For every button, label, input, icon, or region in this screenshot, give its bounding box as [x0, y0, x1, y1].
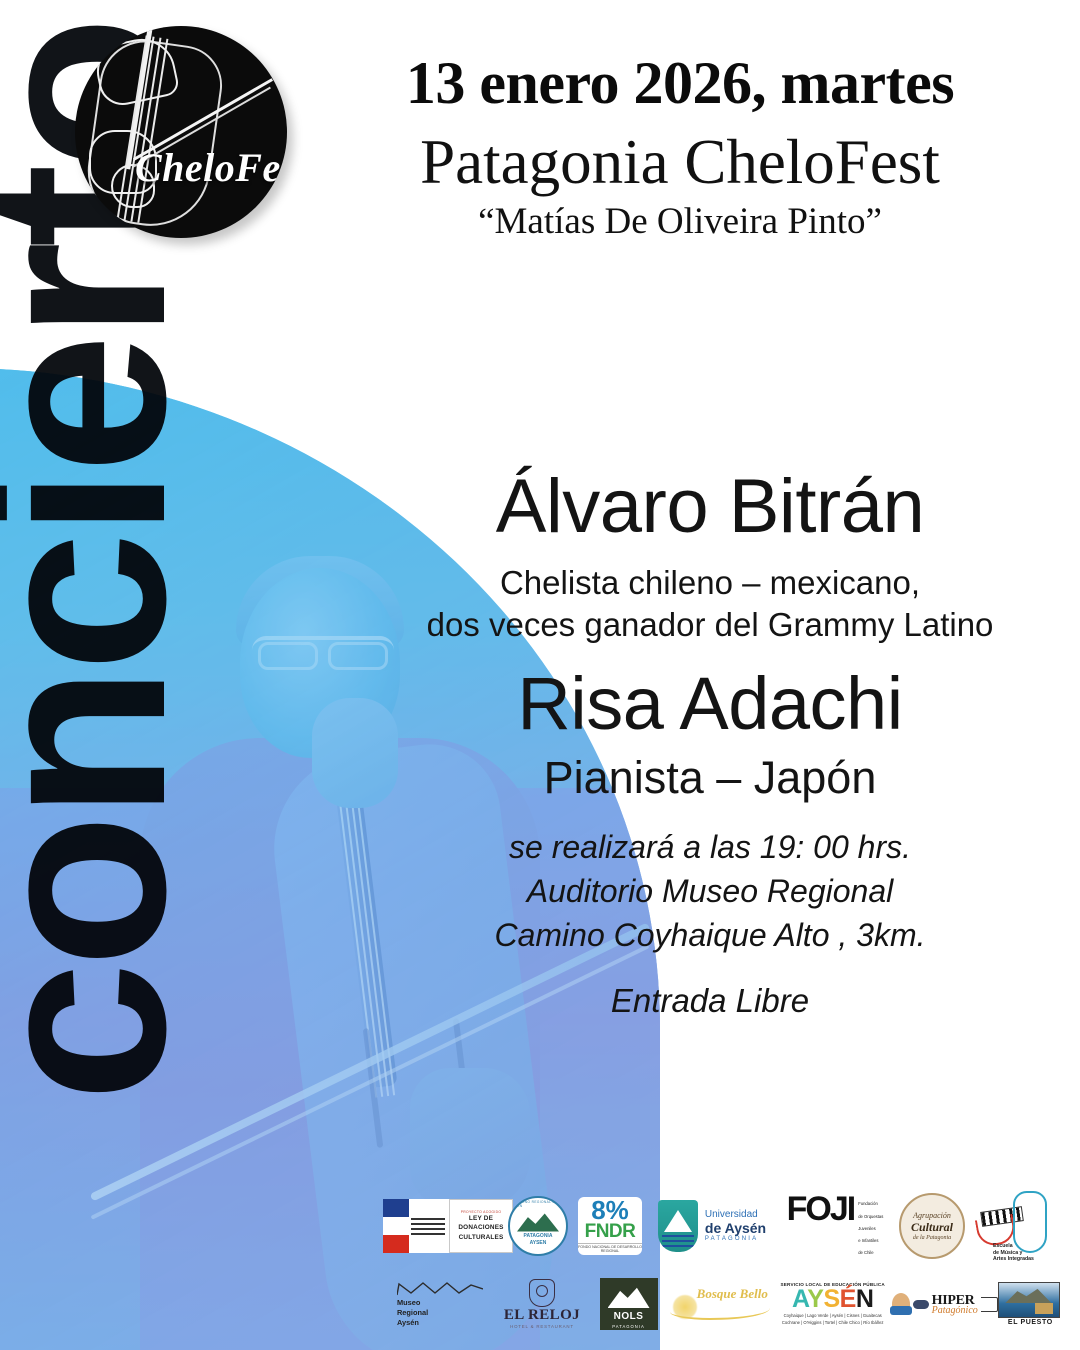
museo-line2: Regional	[397, 1308, 489, 1318]
ministerio-text-icon	[409, 1199, 449, 1253]
nols-caption: PATAGONIA	[600, 1324, 658, 1329]
puesto-landscape-icon	[998, 1282, 1060, 1318]
foji-caption-1: Fundación	[858, 1201, 883, 1207]
clock-crest-icon	[529, 1279, 555, 1307]
escuela-line2: de Música y	[993, 1250, 1034, 1257]
museo-line3: Aysén	[397, 1318, 489, 1328]
logo-patagonia-aysen: GOBIERNO REGIONAL DE AYSÉN PATAGONIA AYS…	[504, 1196, 572, 1256]
poster-header: 13 enero 2026, martes Patagonia CheloFes…	[330, 52, 1030, 244]
escuela-line3: Artes Integradas	[993, 1256, 1034, 1263]
hiper-subtitle: Patagónico	[932, 1305, 978, 1316]
zigzag-mountain-icon	[397, 1280, 483, 1296]
sponsor-logos: PROYECTO ACOGIDO LEY DE DONACIONES CULTU…	[392, 1186, 1064, 1336]
slep-aysen-wordmark: AYSÉN	[773, 1287, 893, 1312]
artist2-name: Risa Adachi	[380, 666, 1040, 741]
agrupacion-line2: Cultural	[911, 1220, 953, 1235]
nols-title: NOLS	[600, 1311, 658, 1322]
escuela-line1: Escuela	[993, 1243, 1034, 1250]
admission-note: Entrada Libre	[380, 981, 1040, 1021]
slep-communes-2: Cochrane | O'Higgins | Tortel | Chile Ch…	[773, 1320, 893, 1326]
event-date: 13 enero 2026, martes	[330, 52, 1030, 115]
chelofest-wordmark: CheloFest	[135, 144, 285, 191]
agrupacion-line3: de la Patagonia	[913, 1235, 951, 1241]
poster-canvas: concierto CheloFest 13 enero 2026, marte…	[0, 0, 1080, 1350]
cloud-icon	[913, 1300, 929, 1309]
venue-address: Camino Coyhaique Alto , 3km.	[380, 913, 1040, 957]
festival-title: Patagonia CheloFest	[330, 127, 1030, 198]
artist1-desc-line1: Chelista chileno – mexicano,	[380, 562, 1040, 604]
logo-museo-regional: Museo Regional Aysén	[392, 1280, 494, 1328]
fndr-acronym: FNDR	[585, 1222, 636, 1241]
main-info-block: Álvaro Bitrán Chelista chileno – mexican…	[380, 468, 1040, 1021]
reloj-title: EL RELOJ	[500, 1307, 584, 1324]
sponsor-row-1: PROYECTO ACOGIDO LEY DE DONACIONES CULTU…	[392, 1186, 1064, 1266]
festival-subtitle: “Matías De Oliveira Pinto”	[330, 200, 1030, 244]
venue-block: se realizará a las 19: 00 hrs. Auditorio…	[380, 825, 1040, 957]
logo-bosque-bello: Bosque Bello	[667, 1282, 773, 1326]
agrupacion-line1: Agrupación	[913, 1211, 951, 1220]
slep-communes-1: Coyhaique | Lago Verde | Aysén | Cisnes …	[773, 1313, 893, 1319]
patagonia-label: PATAGONIA	[524, 1234, 553, 1240]
logo-el-reloj: EL RELOJ HOTEL & RESTAURANT	[494, 1279, 590, 1329]
artist2-role: Pianista – Japón	[380, 753, 1040, 803]
shield-icon	[658, 1200, 698, 1252]
reloj-caption: HOTEL & RESTAURANT	[500, 1324, 584, 1329]
ley-line1: LEY DE	[469, 1214, 493, 1223]
logo-foji: FOJI Fundación de Orquestas Juveniles e …	[776, 1195, 894, 1256]
ley-line3: CULTURALES	[459, 1233, 504, 1242]
logo-fndr: 8% FNDR FONDO NACIONAL DE DESARROLLO REG…	[572, 1197, 648, 1255]
logo-slep-aysen: SERVICIO LOCAL DE EDUCACIÓN PÚBLICA AYSÉ…	[773, 1282, 893, 1327]
foji-acronym: FOJI	[787, 1195, 855, 1224]
logo-escuela-musica: Escuela de Música y Artes Integradas	[970, 1191, 1056, 1261]
puesto-title: EL PUESTO	[998, 1319, 1062, 1326]
bosque-title: Bosque Bello	[697, 1286, 768, 1302]
mountain-icon	[517, 1212, 559, 1232]
logo-agrupacion-cultural: Agrupación Cultural de la Patagonia	[894, 1193, 970, 1259]
artist1-name: Álvaro Bitrán	[380, 468, 1040, 546]
foji-caption-4: e Infantiles	[858, 1238, 883, 1244]
foji-caption-2: de Orquestas	[858, 1214, 883, 1220]
logo-nols: NOLS PATAGONIA	[590, 1278, 667, 1330]
foji-caption-3: Juveniles	[858, 1226, 883, 1232]
uaysen-line3: PATAGONIA	[705, 1236, 766, 1242]
fndr-caption: FONDO NACIONAL DE DESARROLLO REGIONAL	[578, 1243, 642, 1253]
ley-line2: DONACIONES	[458, 1223, 503, 1232]
shopping-cart-icon	[981, 1297, 998, 1312]
logo-universidad-aysen: Universidad de Aysén PATAGONIA	[648, 1200, 776, 1252]
aysen-label: AYSEN	[530, 1241, 547, 1247]
event-time: se realizará a las 19: 00 hrs.	[380, 825, 1040, 869]
logo-hiper-patagonico: HIPER Patagónico	[893, 1293, 997, 1316]
fndr-percent: 8%	[591, 1199, 629, 1222]
artist1-desc-line2: dos veces ganador del Grammy Latino	[380, 604, 1040, 646]
nols-mountain-icon	[608, 1286, 650, 1308]
logo-ministerio-culturas: PROYECTO ACOGIDO LEY DE DONACIONES CULTU…	[392, 1199, 504, 1253]
chelofest-logo-badge: CheloFest	[75, 26, 287, 238]
chile-flag-icon	[383, 1199, 409, 1253]
venue-name: Auditorio Museo Regional	[380, 869, 1040, 913]
museo-line1: Museo	[397, 1298, 489, 1308]
uaysen-line2: de Aysén	[705, 1221, 766, 1236]
logo-el-puesto: EL PUESTO	[997, 1282, 1064, 1326]
hill-icon	[670, 1300, 770, 1320]
sponsor-row-2: Museo Regional Aysén EL RELOJ HOTEL & RE…	[392, 1272, 1064, 1336]
shopper-icon	[892, 1293, 910, 1315]
aysen-ring-text: GOBIERNO REGIONAL DE AYSÉN	[510, 1200, 566, 1208]
foji-caption-5: de Chile	[858, 1250, 883, 1256]
